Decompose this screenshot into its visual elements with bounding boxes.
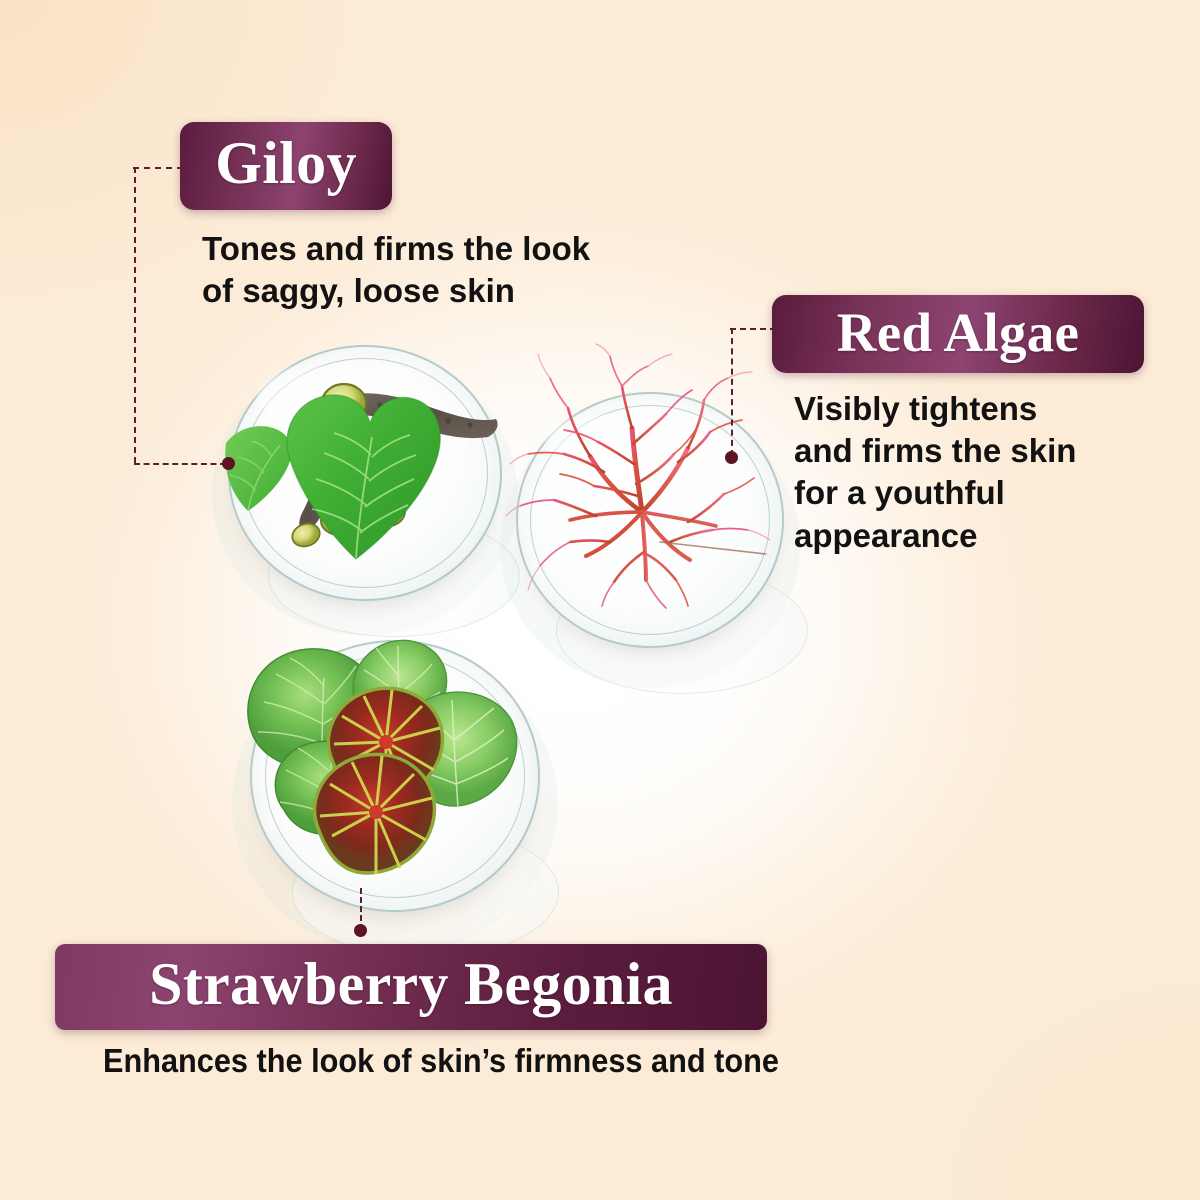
ingredient-description-red-algae: Visibly tightens and firms the skin for …	[794, 388, 1154, 557]
red-algae-connector-dot	[725, 451, 738, 464]
begonia-leaf-red-2-icon	[315, 754, 435, 874]
ingredient-badge-giloy-label: Giloy	[215, 129, 357, 198]
red-algae-connector-top-segment	[730, 328, 776, 330]
red-algae-specimen	[516, 392, 784, 648]
giloy-connector-vertical-segment	[134, 167, 136, 463]
petri-dish-strawberry-begonia	[250, 640, 540, 912]
ingredient-badge-giloy[interactable]: Giloy	[180, 122, 392, 210]
giloy-connector-top-segment	[133, 167, 183, 169]
giloy-connector-bottom-segment	[134, 463, 226, 465]
ingredient-badge-strawberry-begonia-label: Strawberry Begonia	[149, 950, 673, 1019]
ingredient-description-giloy: Tones and firms the look of saggy, loose…	[202, 228, 672, 312]
petri-dish-red-algae	[516, 392, 784, 648]
ingredient-infographic: Giloy Red Algae Strawberry Begonia Tones…	[0, 0, 1200, 1200]
giloy-connector-dot	[222, 457, 235, 470]
strawberry-begonia-leaves-specimen	[250, 640, 540, 912]
strawberry-begonia-connector-dot	[354, 924, 367, 937]
ingredient-badge-red-algae-label: Red Algae	[837, 301, 1080, 364]
giloy-leaf-and-stem-specimen	[228, 345, 502, 601]
giloy-leaf-small-icon	[225, 426, 291, 511]
ingredient-badge-red-algae[interactable]: Red Algae	[772, 295, 1144, 373]
red-algae-connector-vertical-segment	[731, 328, 733, 456]
petri-dish-giloy	[228, 345, 502, 601]
ingredient-badge-strawberry-begonia[interactable]: Strawberry Begonia	[55, 944, 767, 1030]
ingredient-description-strawberry-begonia: Enhances the look of skin’s firmness and…	[55, 1040, 827, 1082]
